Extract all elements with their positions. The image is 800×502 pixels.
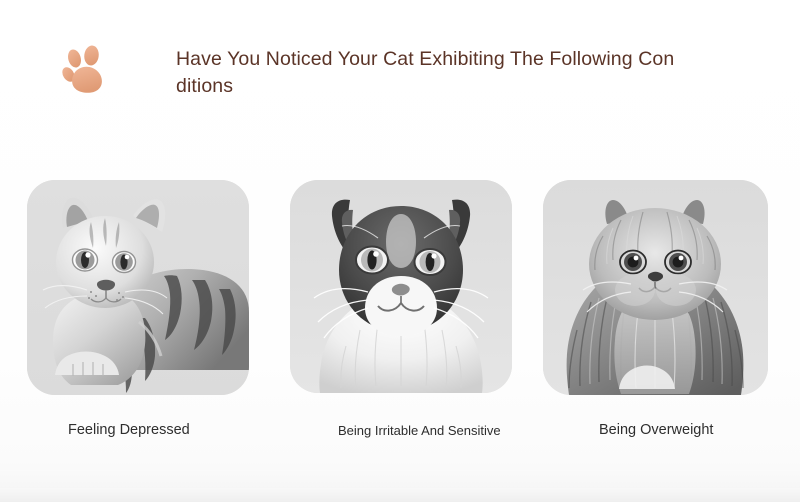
card-caption-depressed: Feeling Depressed (68, 421, 190, 439)
condition-cards (0, 180, 800, 400)
condition-card-irritable[interactable] (290, 180, 512, 393)
page-title: Have You Noticed Your Cat Exhibiting The… (176, 46, 676, 100)
cat-photo-overweight (543, 180, 768, 395)
card-caption-irritable: Being Irritable And Sensitive (338, 422, 501, 440)
bottom-divider (0, 488, 800, 502)
promo-page: Have You Noticed Your Cat Exhibiting The… (0, 0, 800, 502)
condition-card-depressed[interactable] (27, 180, 249, 395)
card-caption-overweight: Being Overweight (599, 421, 713, 439)
condition-card-overweight[interactable] (543, 180, 768, 395)
cat-photo-depressed (27, 180, 249, 395)
cat-photo-irritable (290, 180, 512, 393)
page-header: Have You Noticed Your Cat Exhibiting The… (0, 36, 800, 106)
paw-print-icon (62, 44, 114, 100)
